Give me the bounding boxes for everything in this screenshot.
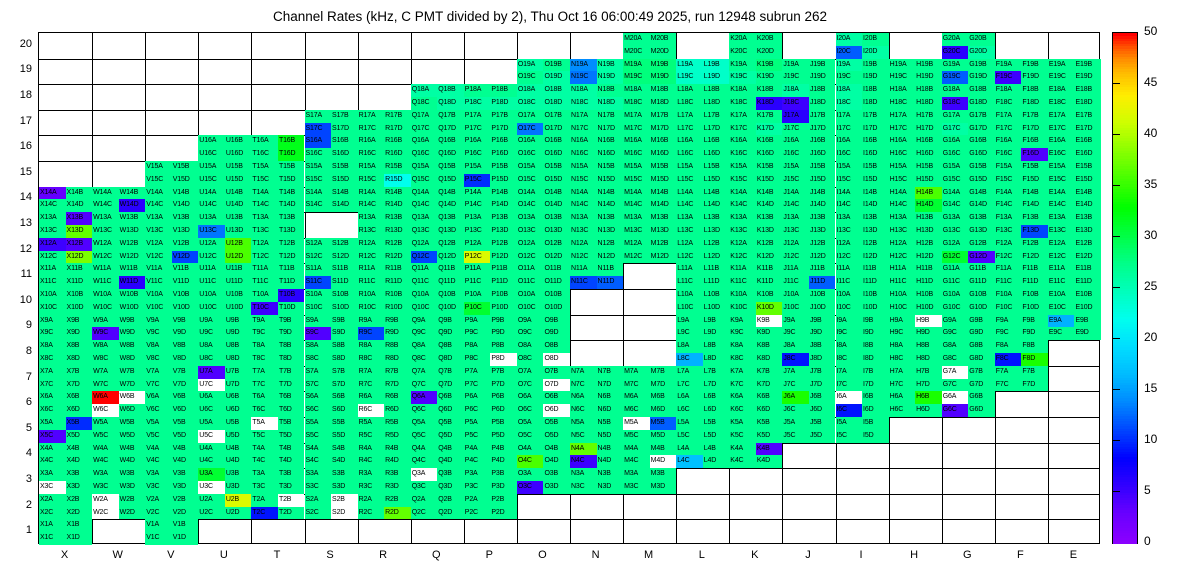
channel-V8A: V8A — [145, 340, 172, 353]
heatmap-cell: H17AH17BH17CH17D — [889, 110, 942, 136]
heatmap-cell: K5AK5BK5CK5D — [729, 417, 782, 443]
channel-U9B: U9B — [225, 315, 252, 328]
heatmap-cell: I14AI14BI14CI14D — [836, 187, 889, 213]
channel-T9D: T9D — [278, 327, 305, 340]
heatmap-cell: X6AX6BX6CX6D — [39, 391, 92, 417]
channel-Q12B: Q12B — [437, 238, 464, 251]
heatmap-cell: F15AF15BF15CF15D — [995, 161, 1048, 187]
heatmap-cell: V5AV5BV5CV5D — [145, 417, 198, 443]
channel-L8B: L8B — [703, 340, 730, 353]
channel-G12B: G12B — [968, 238, 995, 251]
channel-J15B: J15B — [809, 161, 836, 174]
channel-V4D: V4D — [172, 455, 199, 468]
heatmap-cell: M14AM14BM14CM14D — [623, 187, 676, 213]
channel-V6C: V6C — [145, 404, 172, 417]
channel-W9A: W9A — [92, 315, 119, 328]
channel-Q7C: Q7C — [411, 379, 438, 392]
heatmap-cell: L13AL13BL13CL13D — [676, 212, 729, 238]
channel-J15C: J15C — [782, 174, 809, 187]
colorbar-tick-label-40: 40 — [1144, 126, 1157, 140]
channel-L4B: L4B — [703, 443, 730, 456]
channel-P2D: P2D — [490, 507, 517, 520]
channel-U10A: U10A — [198, 289, 225, 302]
channel-X5B: X5B — [66, 417, 93, 430]
heatmap-cell: P13AP13BP13CP13D — [464, 212, 517, 238]
channel-R13B: R13B — [384, 212, 411, 225]
channel-Q5B: Q5B — [437, 417, 464, 430]
channel-E19D: E19D — [1074, 71, 1101, 84]
channel-H7B: H7B — [915, 366, 942, 379]
channel-Q3D: Q3D — [437, 481, 464, 494]
channel-S5A: S5A — [305, 417, 332, 430]
channel-L4C: L4C — [676, 455, 703, 468]
channel-L17A: L17A — [676, 110, 703, 123]
channel-S12C: S12C — [305, 251, 332, 264]
channel-X14A: X14A — [39, 187, 66, 200]
channel-V4B: V4B — [172, 443, 199, 456]
channel-K11A: K11A — [729, 263, 756, 276]
heatmap-cell: G7AG7BG7CG7D — [942, 366, 995, 392]
channel-N16A: N16A — [570, 135, 597, 148]
channel-W8A: W8A — [92, 340, 119, 353]
heatmap-cell: V4AV4BV4CV4D — [145, 443, 198, 469]
heatmap-cell: Q14AQ14BQ14CQ14D — [411, 187, 464, 213]
heatmap-cell: L5AL5BL5CL5D — [676, 417, 729, 443]
heatmap-cell: J13AJ13BJ13CJ13D — [782, 212, 835, 238]
channel-X6C: X6C — [39, 404, 66, 417]
channel-R15C: R15C — [358, 174, 385, 187]
channel-E18C: E18C — [1048, 97, 1075, 110]
x-axis-label-W: W — [98, 549, 138, 561]
heatmap-cell: M12AM12BM12CM12D — [623, 238, 676, 264]
channel-P2B: P2B — [490, 494, 517, 507]
x-axis-label-R: R — [363, 549, 403, 561]
channel-R7D: R7D — [384, 379, 411, 392]
channel-W14B: W14B — [119, 187, 146, 200]
channel-T4C: T4C — [251, 455, 278, 468]
channel-M4B: M4B — [650, 443, 677, 456]
channel-F9A: F9A — [995, 315, 1022, 328]
channel-F16C: F16C — [995, 148, 1022, 161]
channel-R5D: R5D — [384, 430, 411, 443]
page-title: Channel Rates (kHz, C PMT divided by 2),… — [0, 9, 1100, 24]
channel-F10C: F10C — [995, 302, 1022, 315]
colorbar-tick — [1112, 134, 1120, 135]
channel-M18B: M18B — [650, 84, 677, 97]
heatmap-cell: J15AJ15BJ15CJ15D — [782, 161, 835, 187]
channel-V3D: V3D — [172, 481, 199, 494]
channel-F9B: F9B — [1021, 315, 1048, 328]
channel-R9A: R9A — [358, 315, 385, 328]
channel-E14D: E14D — [1074, 199, 1101, 212]
channel-I9D: I9D — [862, 327, 889, 340]
channel-T13D: T13D — [278, 225, 305, 238]
channel-L18B: L18B — [703, 84, 730, 97]
channel-I19D: I19D — [862, 71, 889, 84]
channel-E16C: E16C — [1048, 148, 1075, 161]
channel-J8B: J8B — [809, 340, 836, 353]
channel-T14C: T14C — [251, 199, 278, 212]
channel-Q14C: Q14C — [411, 199, 438, 212]
heatmap-cell: I12AI12BI12CI12D — [836, 238, 889, 264]
channel-J5C: J5C — [782, 430, 809, 443]
channel-N14D: N14D — [597, 199, 624, 212]
channel-K16D: K16D — [756, 148, 783, 161]
channel-F10B: F10B — [1021, 289, 1048, 302]
channel-J7B: J7B — [809, 366, 836, 379]
channel-V11D: V11D — [172, 276, 199, 289]
channel-L17C: L17C — [676, 123, 703, 136]
channel-G10A: G10A — [942, 289, 969, 302]
heatmap-cell: I13AI13BI13CI13D — [836, 212, 889, 238]
heatmap-cell: V13AV13BV13CV13D — [145, 212, 198, 238]
channel-V3A: V3A — [145, 468, 172, 481]
heatmap-cell: R8AR8BR8CR8D — [358, 340, 411, 366]
channel-T11D: T11D — [278, 276, 305, 289]
channel-L16B: L16B — [703, 135, 730, 148]
heatmap-cell: I19AI19BI19CI19D — [836, 59, 889, 85]
y-axis-label-4: 4 — [2, 447, 32, 459]
channel-V8B: V8B — [172, 340, 199, 353]
channel-Q6D: Q6D — [437, 404, 464, 417]
channel-R10B: R10B — [384, 289, 411, 302]
channel-G14C: G14C — [942, 199, 969, 212]
channel-K7D: K7D — [756, 379, 783, 392]
channel-W3C: W3C — [92, 481, 119, 494]
colorbar-tick — [1112, 236, 1120, 237]
channel-U2D: U2D — [225, 507, 252, 520]
channel-S9B: S9B — [331, 315, 358, 328]
channel-P9D: P9D — [490, 327, 517, 340]
channel-S17A: S17A — [305, 110, 332, 123]
channel-E17D: E17D — [1074, 123, 1101, 136]
channel-J7A: J7A — [782, 366, 809, 379]
heatmap-cell: M16AM16BM16CM16D — [623, 135, 676, 161]
channel-O5D: O5D — [543, 430, 570, 443]
heatmap-cell: S7AS7BS7CS7D — [305, 366, 358, 392]
heatmap-cell: T15AT15BT15CT15D — [251, 161, 304, 187]
channel-Q10C: Q10C — [411, 302, 438, 315]
heatmap-cell: O18AO18BO18CO18D — [517, 84, 570, 110]
x-axis-label-H: H — [894, 549, 934, 561]
channel-O6C: O6C — [517, 404, 544, 417]
heatmap-cell: K10AK10BK10CK10D — [729, 289, 782, 315]
channel-V8C: V8C — [145, 353, 172, 366]
channel-R10D: R10D — [384, 302, 411, 315]
heatmap-cell: K6AK6BK6CK6D — [729, 391, 782, 417]
colorbar-tick — [1112, 440, 1120, 441]
heatmap-cell: I20AI20BI20CI20D — [836, 33, 889, 59]
heatmap-cell: R10AR10BR10CR10D — [358, 289, 411, 315]
channel-O16C: O16C — [517, 148, 544, 161]
colorbar-tick-label-25: 25 — [1144, 279, 1157, 293]
channel-L15D: L15D — [703, 174, 730, 187]
channel-V11A: V11A — [145, 263, 172, 276]
channel-M19D: M19D — [650, 71, 677, 84]
heatmap-cell: W6AW6BW6CW6D — [92, 391, 145, 417]
channel-G18A: G18A — [942, 84, 969, 97]
channel-K14A: K14A — [729, 187, 756, 200]
channel-F7A: F7A — [995, 366, 1022, 379]
channel-F15C: F15C — [995, 174, 1022, 187]
channel-J12D: J12D — [809, 251, 836, 264]
channel-P6D: P6D — [490, 404, 517, 417]
channel-N11A: N11A — [570, 263, 597, 276]
channel-G17C: G17C — [942, 123, 969, 136]
heatmap-cell: J17AJ17BJ17CJ17D — [782, 110, 835, 136]
channel-T3B: T3B — [278, 468, 305, 481]
channel-K4A: K4A — [729, 443, 756, 456]
channel-Q15B: Q15B — [437, 161, 464, 174]
channel-P11C: P11C — [464, 276, 491, 289]
channel-V8D: V8D — [172, 353, 199, 366]
channel-O18C: O18C — [517, 97, 544, 110]
channel-S8A: S8A — [305, 340, 332, 353]
heatmap-cell: Q6AQ6BQ6CQ6D — [411, 391, 464, 417]
channel-S15C: S15C — [305, 174, 332, 187]
heatmap-cell: L4AL4BL4CL4D — [676, 443, 729, 469]
heatmap-cell: F14AF14BF14CF14D — [995, 187, 1048, 213]
channel-U14D: U14D — [225, 199, 252, 212]
heatmap-cell: F16AF16BF16CF16D — [995, 135, 1048, 161]
heatmap-cell: F12AF12BF12CF12D — [995, 238, 1048, 264]
channel-T7C: T7C — [251, 379, 278, 392]
channel-Q5A: Q5A — [411, 417, 438, 430]
x-axis-label-J: J — [788, 549, 828, 561]
channel-W11B: W11B — [119, 263, 146, 276]
channel-P3D: P3D — [490, 481, 517, 494]
channel-Q6A: Q6A — [411, 391, 438, 404]
channel-E16A: E16A — [1048, 135, 1075, 148]
channel-P12B: P12B — [490, 238, 517, 251]
channel-E18D: E18D — [1074, 97, 1101, 110]
heatmap-cell: I18AI18BI18CI18D — [836, 84, 889, 110]
channel-U10C: U10C — [198, 302, 225, 315]
heatmap-cell: W5AW5BW5CW5D — [92, 417, 145, 443]
channel-E12C: E12C — [1048, 251, 1075, 264]
heatmap-cell: G9AG9BG9CG9D — [942, 315, 995, 341]
channel-U13A: U13A — [198, 212, 225, 225]
heatmap-cell: H15AH15BH15CH15D — [889, 161, 942, 187]
channel-V12C: V12C — [145, 251, 172, 264]
heatmap-cell: J12AJ12BJ12CJ12D — [782, 238, 835, 264]
channel-N12D: N12D — [597, 251, 624, 264]
channel-G14D: G14D — [968, 199, 995, 212]
channel-L18D: L18D — [703, 97, 730, 110]
channel-E13B: E13B — [1074, 212, 1101, 225]
channel-S7A: S7A — [305, 366, 332, 379]
heatmap-cell: R6AR6BR6CR6D — [358, 391, 411, 417]
channel-T11C: T11C — [251, 276, 278, 289]
channel-N12B: N12B — [597, 238, 624, 251]
heatmap-cell: K16AK16BK16CK16D — [729, 135, 782, 161]
heatmap-cell: L8AL8BL8CL8D — [676, 340, 729, 366]
channel-V13C: V13C — [145, 225, 172, 238]
channel-X11C: X11C — [39, 276, 66, 289]
heatmap-cell: R2AR2BR2CR2D — [358, 494, 411, 520]
channel-L6B: L6B — [703, 391, 730, 404]
channel-F12C: F12C — [995, 251, 1022, 264]
channel-Q13A: Q13A — [411, 212, 438, 225]
channel-E18A: E18A — [1048, 84, 1075, 97]
channel-H12A: H12A — [889, 238, 916, 251]
channel-L11C: L11C — [676, 276, 703, 289]
channel-E12B: E12B — [1074, 238, 1101, 251]
heatmap-cell: L18AL18BL18CL18D — [676, 84, 729, 110]
channel-S7C: S7C — [305, 379, 332, 392]
heatmap-cell: K15AK15BK15CK15D — [729, 161, 782, 187]
channel-X1B: X1B — [66, 519, 93, 532]
channel-L6D: L6D — [703, 404, 730, 417]
channel-U15B: U15B — [225, 161, 252, 174]
channel-R4C: R4C — [358, 455, 385, 468]
heatmap-cell: P7AP7BP7CP7D — [464, 366, 517, 392]
heatmap-cell: P11AP11BP11CP11D — [464, 263, 517, 289]
channel-E13D: E13D — [1074, 225, 1101, 238]
channel-W14D: W14D — [119, 199, 146, 212]
channel-T7A: T7A — [251, 366, 278, 379]
heatmap-cell: U2AU2BU2CU2D — [198, 494, 251, 520]
channel-T6D: T6D — [278, 404, 305, 417]
channel-K14B: K14B — [756, 187, 783, 200]
channel-O9B: O9B — [543, 315, 570, 328]
channel-O16D: O16D — [543, 148, 570, 161]
heatmap-cell: G11AG11BG11CG11D — [942, 263, 995, 289]
channel-M18C: M18C — [623, 97, 650, 110]
channel-J16D: J16D — [809, 148, 836, 161]
channel-T15A: T15A — [251, 161, 278, 174]
channel-Q4D: Q4D — [437, 455, 464, 468]
channel-Q15D: Q15D — [437, 174, 464, 187]
channel-R12A: R12A — [358, 238, 385, 251]
heatmap-cell: E17AE17BE17CE17D — [1048, 110, 1101, 136]
channel-H12D: H12D — [915, 251, 942, 264]
channel-H10B: H10B — [915, 289, 942, 302]
channel-J19B: J19B — [809, 59, 836, 72]
channel-F13C: F13C — [995, 225, 1022, 238]
channel-H15D: H15D — [915, 174, 942, 187]
heatmap-cell: I17AI17BI17CI17D — [836, 110, 889, 136]
channel-R14C: R14C — [358, 199, 385, 212]
channel-I9A: I9A — [836, 315, 863, 328]
heatmap-cell: J6AJ6BJ6CJ6D — [782, 391, 835, 417]
channel-I18C: I18C — [836, 97, 863, 110]
channel-H15B: H15B — [915, 161, 942, 174]
channel-U2C: U2C — [198, 507, 225, 520]
channel-E10D: E10D — [1074, 302, 1101, 315]
channel-S8D: S8D — [331, 353, 358, 366]
channel-L15A: L15A — [676, 161, 703, 174]
channel-P10D: P10D — [490, 302, 517, 315]
heatmap-cell: Q18AQ18BQ18CQ18D — [411, 84, 464, 110]
channel-K8D: K8D — [756, 353, 783, 366]
channel-W7A: W7A — [92, 366, 119, 379]
channel-O8A: O8A — [517, 340, 544, 353]
channel-O10D: O10D — [543, 302, 570, 315]
heatmap-cell: X12AX12BX12CX12D — [39, 238, 92, 264]
channel-K4B: K4B — [756, 443, 783, 456]
channel-U3D: U3D — [225, 481, 252, 494]
channel-T12A: T12A — [251, 238, 278, 251]
channel-H16D: H16D — [915, 148, 942, 161]
channel-Q8C: Q8C — [411, 353, 438, 366]
heatmap-cell: M4AM4BM4CM4D — [623, 443, 676, 469]
channel-K17D: K17D — [756, 123, 783, 136]
channel-Q6C: Q6C — [411, 404, 438, 417]
heatmap-cell: Q3AQ3BQ3CQ3D — [411, 468, 464, 494]
heatmap-cell: K8AK8BK8CK8D — [729, 340, 782, 366]
channel-M3A: M3A — [623, 468, 650, 481]
channel-L12B: L12B — [703, 238, 730, 251]
channel-J19A: J19A — [782, 59, 809, 72]
heatmap-cell: K11AK11BK11CK11D — [729, 263, 782, 289]
channel-F8B: F8B — [1021, 340, 1048, 353]
channel-U4D: U4D — [225, 455, 252, 468]
channel-U16B: U16B — [225, 135, 252, 148]
channel-W2D: W2D — [119, 507, 146, 520]
channel-K10B: K10B — [756, 289, 783, 302]
channel-H6A: H6A — [889, 391, 916, 404]
channel-O10A: O10A — [517, 289, 544, 302]
channel-L12D: L12D — [703, 251, 730, 264]
channel-W6C: W6C — [92, 404, 119, 417]
heatmap-cell: X8AX8BX8CX8D — [39, 340, 92, 366]
channel-E9B: E9B — [1074, 315, 1101, 328]
channel-I12B: I12B — [862, 238, 889, 251]
heatmap-cell: O10AO10BO10CO10D — [517, 289, 570, 315]
heatmap-cell: I16AI16BI16CI16D — [836, 135, 889, 161]
channel-Q17C: Q17C — [411, 123, 438, 136]
channel-F14D: F14D — [1021, 199, 1048, 212]
channel-O7C: O7C — [517, 379, 544, 392]
channel-H15A: H15A — [889, 161, 916, 174]
heatmap-cell: O14AO14BO14CO14D — [517, 187, 570, 213]
channel-U7B: U7B — [225, 366, 252, 379]
channel-I16D: I16D — [862, 148, 889, 161]
channel-Q2A: Q2A — [411, 494, 438, 507]
channel-X13A: X13A — [39, 212, 66, 225]
heatmap-cell: J19AJ19BJ19CJ19D — [782, 59, 835, 85]
channel-P14C: P14C — [464, 199, 491, 212]
channel-H10D: H10D — [915, 302, 942, 315]
channel-E11A: E11A — [1048, 263, 1075, 276]
heatmap-cell: U11AU11BU11CU11D — [198, 263, 251, 289]
channel-O17C: O17C — [517, 123, 544, 136]
heatmap-cell: N3AN3BN3CN3D — [570, 468, 623, 494]
heatmap-cell: S17AS17BS17CS17D — [305, 110, 358, 136]
channel-E11B: E11B — [1074, 263, 1101, 276]
channel-U14C: U14C — [198, 199, 225, 212]
channel-M3C: M3C — [623, 481, 650, 494]
channel-Q9A: Q9A — [411, 315, 438, 328]
channel-J14C: J14C — [782, 199, 809, 212]
channel-U15D: U15D — [225, 174, 252, 187]
channel-H13D: H13D — [915, 225, 942, 238]
channel-F13A: F13A — [995, 212, 1022, 225]
heatmap-cell: H12AH12BH12CH12D — [889, 238, 942, 264]
heatmap-cell: V1AV1BV1CV1D — [145, 519, 198, 545]
channel-L16A: L16A — [676, 135, 703, 148]
channel-L9A: L9A — [676, 315, 703, 328]
channel-K9B: K9B — [756, 315, 783, 328]
channel-W12A: W12A — [92, 238, 119, 251]
channel-J14A: J14A — [782, 187, 809, 200]
channel-O17A: O17A — [517, 110, 544, 123]
channel-V10B: V10B — [172, 289, 199, 302]
channel-H8A: H8A — [889, 340, 916, 353]
channel-U7C: U7C — [198, 379, 225, 392]
channel-U3B: U3B — [225, 468, 252, 481]
